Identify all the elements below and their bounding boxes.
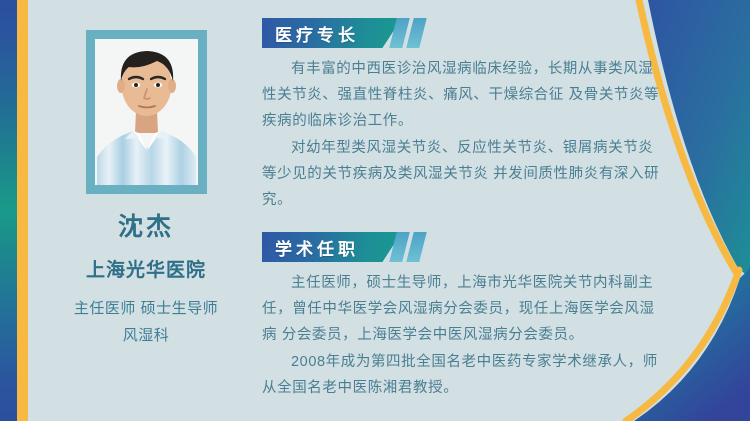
doctor-profile-card: 沈杰 上海光华医院 主任医师 硕士生导师 风湿科 医疗专长 有丰富的中西医诊治风…	[0, 0, 750, 421]
badge-row-academic: 学术任职	[262, 232, 682, 262]
paragraph: 有丰富的中西医诊治风湿病临床经验，长期从事类风湿性关节炎、强直性脊柱炎、痛风、干…	[262, 56, 662, 134]
doctor-portrait-illustration	[95, 39, 198, 185]
badge-slash-icon-2	[406, 232, 426, 262]
left-accent-stripe-yellow	[17, 0, 28, 421]
badge-row-speciality: 医疗专长	[262, 18, 682, 48]
speciality-paragraphs: 有丰富的中西医诊治风湿病临床经验，长期从事类风湿性关节炎、强直性脊柱炎、痛风、干…	[262, 56, 682, 213]
paragraph: 对幼年型类风湿关节炎、反应性关节炎、银屑病关节炎等少见的关节疾病及类风湿关节炎 …	[262, 135, 662, 213]
avatar	[95, 39, 198, 185]
section-badge-label: 学术任职	[275, 235, 359, 260]
section-badge-speciality: 医疗专长	[262, 18, 402, 48]
section-badge-label: 医疗专长	[275, 21, 359, 46]
doctor-department: 风湿科	[123, 324, 170, 345]
section-academic-appointments: 学术任职 主任医师，硕士生导师，上海市光华医院关节内科副主任，曾任中华医学会风湿…	[262, 232, 682, 401]
badge-slash-icon-2	[406, 18, 426, 48]
section-medical-speciality: 医疗专长 有丰富的中西医诊治风湿病临床经验，长期从事类风湿性关节炎、强直性脊柱炎…	[262, 18, 682, 213]
paragraph: 主任医师，硕士生导师，上海市光华医院关节内科副主任，曾任中华医学会风湿病分会委员…	[262, 270, 662, 348]
section-badge-academic: 学术任职	[262, 232, 402, 262]
left-accent-stripe-gradient	[0, 0, 17, 421]
doctor-title: 主任医师 硕士生导师	[74, 297, 218, 318]
doctor-name: 沈杰	[118, 214, 174, 242]
portrait-frame	[86, 30, 207, 194]
paragraph: 2008年成为第四批全国名老中医药专家学术继承人，师从全国名老中医陈湘君教授。	[262, 349, 662, 401]
academic-paragraphs: 主任医师，硕士生导师，上海市光华医院关节内科副主任，曾任中华医学会风湿病分会委员…	[262, 270, 682, 401]
doctor-hospital: 上海光华医院	[86, 255, 206, 282]
doctor-identity-column: 沈杰 上海光华医院 主任医师 硕士生导师 风湿科	[32, 0, 260, 421]
doctor-details-column: 医疗专长 有丰富的中西医诊治风湿病临床经验，长期从事类风湿性关节炎、强直性脊柱炎…	[262, 0, 682, 421]
